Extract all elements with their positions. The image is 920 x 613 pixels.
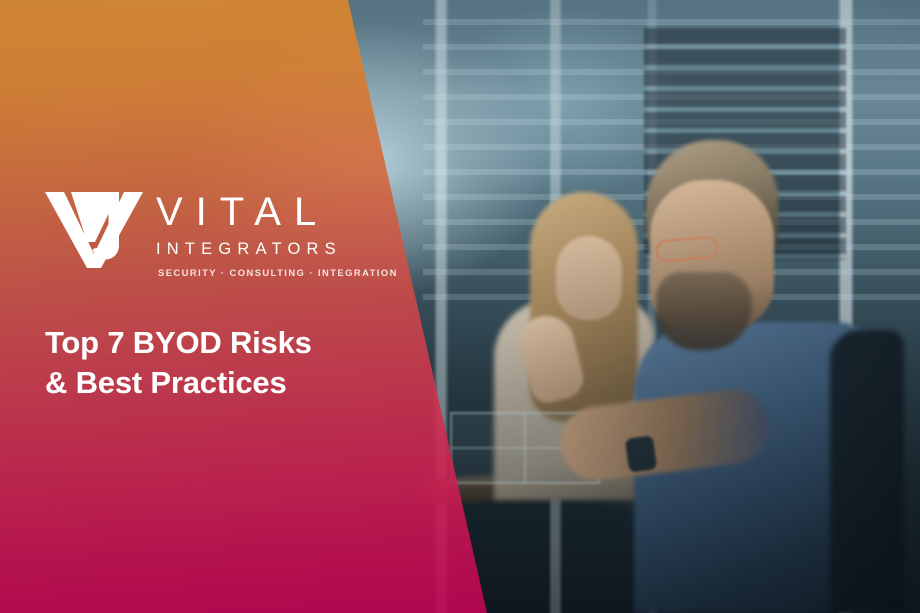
blog-hero-banner: VITAL INTEGRATORS SECURITY · CONSULTING … [0,0,920,613]
hero-headline-line-1: Top 7 BYOD Risks [45,323,385,363]
brand-subname: INTEGRATORS [156,241,398,258]
hero-headline-line-2: & Best Practices [45,363,385,403]
brand-tagline: SECURITY · CONSULTING · INTEGRATION [158,268,398,277]
brand-wordmark-group: VITAL INTEGRATORS SECURITY · CONSULTING … [156,190,398,277]
brand-name: VITAL [156,192,398,232]
vital-v-chevron-logo-icon [45,190,143,270]
hero-headline: Top 7 BYOD Risks & Best Practices [45,323,385,403]
brand-lockup: VITAL INTEGRATORS SECURITY · CONSULTING … [45,190,375,277]
